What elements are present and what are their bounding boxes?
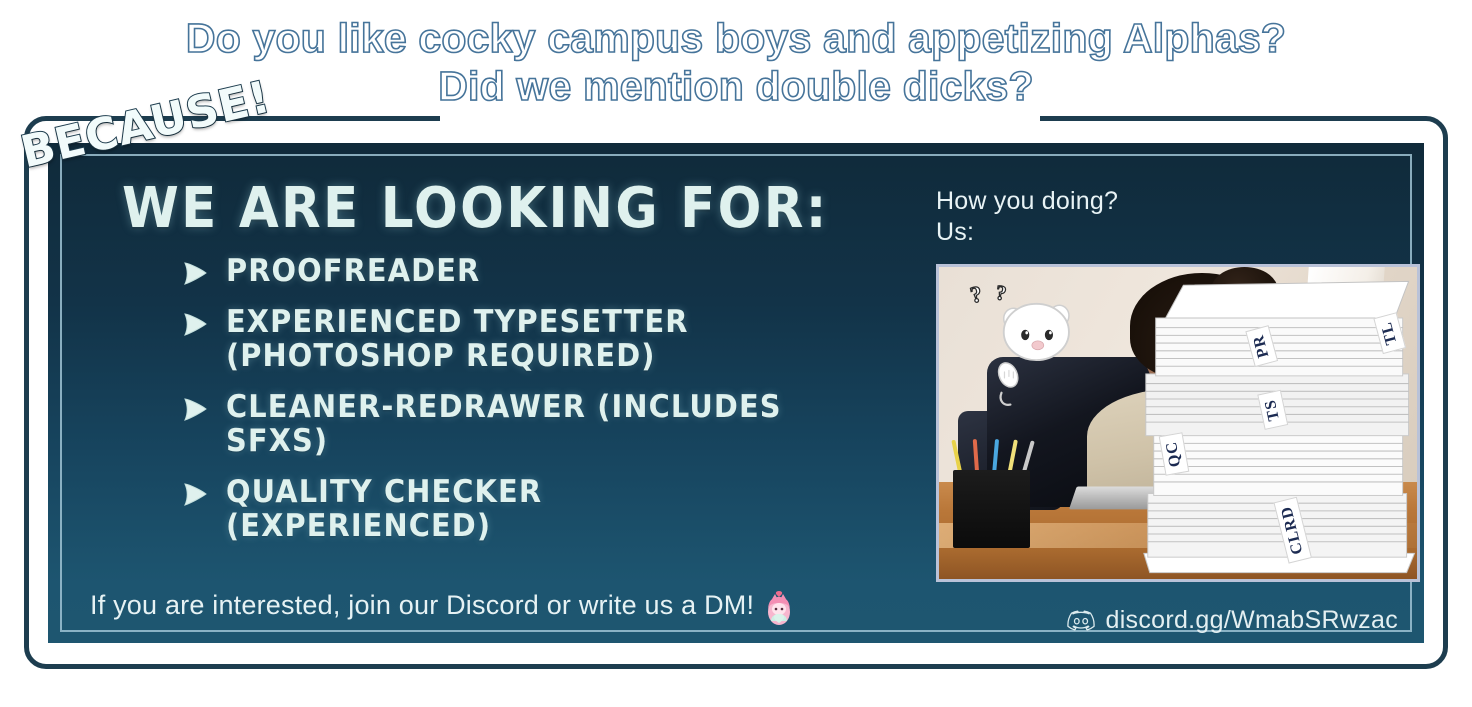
list-item: EXPERIENCED TYPESETTER (PHOTOSHOP REQUIR… xyxy=(182,305,898,373)
discord-invite-label[interactable]: discord.gg/WmabSRwzac xyxy=(1105,606,1398,635)
job-list: PROOFREADER EXPERIENCED TYPESETTER (PHOT… xyxy=(182,254,898,543)
chevron-bullet-icon xyxy=(182,312,209,337)
status-column: How you doing? Us: xyxy=(936,186,1422,248)
headline-line-1: Do you like cocky campus boys and appeti… xyxy=(176,14,1296,62)
photo-content: ? ? xyxy=(939,267,1417,579)
answer-text: Us: xyxy=(936,217,1422,248)
page-title: WE ARE LOOKING FOR: xyxy=(122,178,836,240)
paper-stack: TL PR TS QC CLRD xyxy=(1130,267,1417,579)
photo-pen-cup xyxy=(953,470,1029,548)
call-to-action: If you are interested, join our Discord … xyxy=(90,585,796,625)
list-item-label: EXPERIENCED TYPESETTER (PHOTOSHOP REQUIR… xyxy=(226,305,851,373)
chevron-bullet-icon xyxy=(182,397,209,422)
list-item: CLEANER-REDRAWER (INCLUDES SFXS) xyxy=(182,390,898,458)
list-item: PROOFREADER xyxy=(182,254,898,288)
list-item-label: CLEANER-REDRAWER (INCLUDES SFXS) xyxy=(226,390,851,458)
call-to-action-label: If you are interested, join our Discord … xyxy=(90,589,754,621)
chevron-bullet-icon xyxy=(182,482,209,507)
list-item-label: PROOFREADER xyxy=(226,254,851,288)
discord-logo-icon xyxy=(1067,610,1095,632)
chibi-girl-heart-emote xyxy=(762,587,796,627)
list-item: QUALITY CHECKER (EXPERIENCED) xyxy=(182,475,898,543)
headline-line-2: Did we mention double dicks? xyxy=(428,62,1044,110)
office-worker-paper-stack-photo: ? ? xyxy=(936,264,1420,582)
recruitment-column: WE ARE LOOKING FOR: PROOFREADER EXPERIEN… xyxy=(78,178,898,560)
discord-invite-line[interactable]: discord.gg/WmabSRwzac xyxy=(1067,606,1398,635)
question-text: How you doing? xyxy=(936,186,1422,217)
frame-title-notch xyxy=(440,108,1040,130)
list-item-label: QUALITY CHECKER (EXPERIENCED) xyxy=(226,475,851,543)
white-bear-peeking-sticker xyxy=(977,289,1106,408)
chevron-bullet-icon xyxy=(182,261,209,286)
